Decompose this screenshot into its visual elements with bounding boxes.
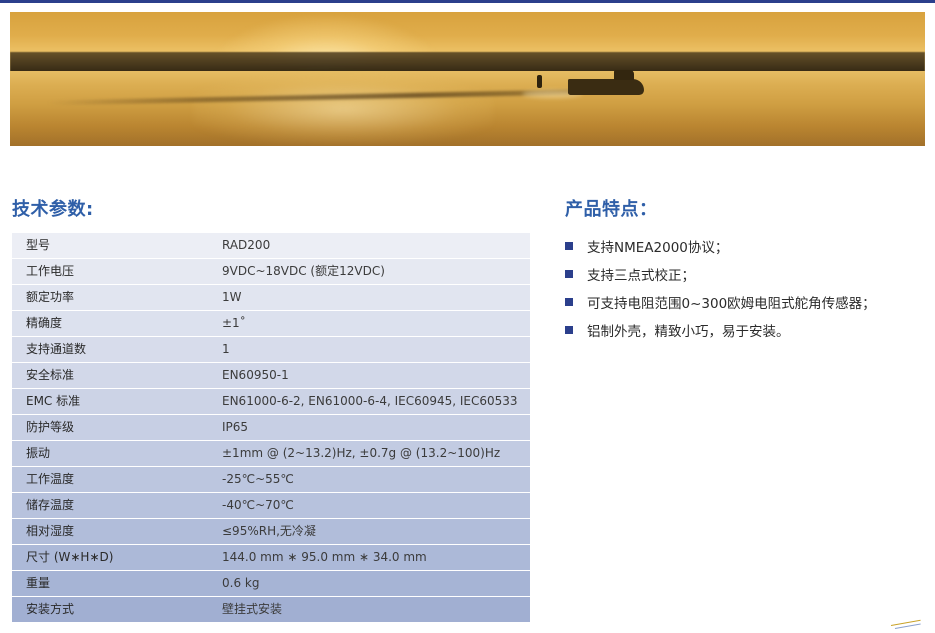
spec-value-cell: 0.6 kg — [208, 571, 530, 597]
spec-value-cell: EN61000-6-2, EN61000-6-4, IEC60945, IEC6… — [208, 389, 530, 415]
square-bullet-icon — [565, 298, 573, 306]
spec-key-cell: 安全标准 — [12, 363, 208, 389]
spec-key-cell: 重量 — [12, 571, 208, 597]
spec-key-cell: 防护等级 — [12, 415, 208, 441]
spec-value-cell: IP65 — [208, 415, 530, 441]
feature-item-label: 支持三点式校正； — [587, 264, 695, 284]
spec-key-cell: 振动 — [12, 441, 208, 467]
spec-value-cell: 144.0 mm ∗ 95.0 mm ∗ 34.0 mm — [208, 545, 530, 571]
table-row: 相对湿度≤95%RH,无冷凝 — [12, 519, 530, 545]
spec-value-cell: ±1mm @ (2~13.2)Hz, ±0.7g @ (13.2~100)Hz — [208, 441, 530, 467]
table-row: 尺寸 (W∗H∗D)144.0 mm ∗ 95.0 mm ∗ 34.0 mm — [12, 545, 530, 571]
spec-value-cell: -25℃~55℃ — [208, 467, 530, 493]
spec-value-cell: 9VDC~18VDC (额定12VDC) — [208, 259, 530, 285]
square-bullet-icon — [565, 326, 573, 334]
feature-item-label: 铝制外壳，精致小巧，易于安装。 — [587, 320, 790, 340]
spec-key-cell: 工作温度 — [12, 467, 208, 493]
table-row: 精确度±1˚ — [12, 311, 530, 337]
spec-value-cell: EN60950-1 — [208, 363, 530, 389]
spec-value-cell: -40℃~70℃ — [208, 493, 530, 519]
spec-key-cell: 工作电压 — [12, 259, 208, 285]
feature-item-label: 可支持电阻范围0~300欧姆电阻式舵角传感器； — [587, 292, 876, 312]
table-row: 安全标准EN60950-1 — [12, 363, 530, 389]
list-item: 支持三点式校正； — [565, 260, 935, 288]
spec-key-cell: 安装方式 — [12, 597, 208, 623]
square-bullet-icon — [565, 270, 573, 278]
list-item: 支持NMEA2000协议； — [565, 232, 935, 260]
spec-key-cell: 尺寸 (W∗H∗D) — [12, 545, 208, 571]
spec-value-cell: RAD200 — [208, 233, 530, 259]
hero-rider-silhouette — [537, 75, 542, 88]
top-rule — [0, 0, 935, 3]
list-item: 可支持电阻范围0~300欧姆电阻式舵角传感器； — [565, 288, 935, 316]
feature-section-heading: 产品特点： — [565, 195, 658, 221]
spec-key-cell: 额定功率 — [12, 285, 208, 311]
table-row: 工作温度-25℃~55℃ — [12, 467, 530, 493]
spec-section-heading: 技术参数: — [12, 195, 94, 221]
hero-boat-silhouette — [568, 79, 644, 95]
spec-key-cell: 型号 — [12, 233, 208, 259]
hero-photo — [10, 12, 925, 146]
table-row: 型号RAD200 — [12, 233, 530, 259]
spec-value-cell: 壁挂式安装 — [208, 597, 530, 623]
table-row: EMC 标准EN61000-6-2, EN61000-6-4, IEC60945… — [12, 389, 530, 415]
table-row: 振动±1mm @ (2~13.2)Hz, ±0.7g @ (13.2~100)H… — [12, 441, 530, 467]
spec-value-cell: 1W — [208, 285, 530, 311]
table-row: 支持通道数1 — [12, 337, 530, 363]
spec-key-cell: 相对湿度 — [12, 519, 208, 545]
spec-key-cell: 精确度 — [12, 311, 208, 337]
spec-value-cell: 1 — [208, 337, 530, 363]
feature-item-label: 支持NMEA2000协议； — [587, 236, 728, 256]
table-row: 储存温度-40℃~70℃ — [12, 493, 530, 519]
table-row: 工作电压9VDC~18VDC (额定12VDC) — [12, 259, 530, 285]
list-item: 铝制外壳，精致小巧，易于安装。 — [565, 316, 935, 344]
table-row: 重量0.6 kg — [12, 571, 530, 597]
spec-key-cell: 储存温度 — [12, 493, 208, 519]
page-corner-mark — [891, 615, 925, 629]
table-row: 安装方式壁挂式安装 — [12, 597, 530, 623]
table-row: 防护等级IP65 — [12, 415, 530, 441]
spec-table: 型号RAD200工作电压9VDC~18VDC (额定12VDC)额定功率1W精确… — [12, 233, 530, 623]
spec-key-cell: 支持通道数 — [12, 337, 208, 363]
spec-value-cell: ≤95%RH,无冷凝 — [208, 519, 530, 545]
table-row: 额定功率1W — [12, 285, 530, 311]
spec-value-cell: ±1˚ — [208, 311, 530, 337]
hero-sun-reflection — [193, 74, 493, 144]
spec-key-cell: EMC 标准 — [12, 389, 208, 415]
square-bullet-icon — [565, 242, 573, 250]
feature-list: 支持NMEA2000协议；支持三点式校正；可支持电阻范围0~300欧姆电阻式舵角… — [565, 232, 935, 344]
